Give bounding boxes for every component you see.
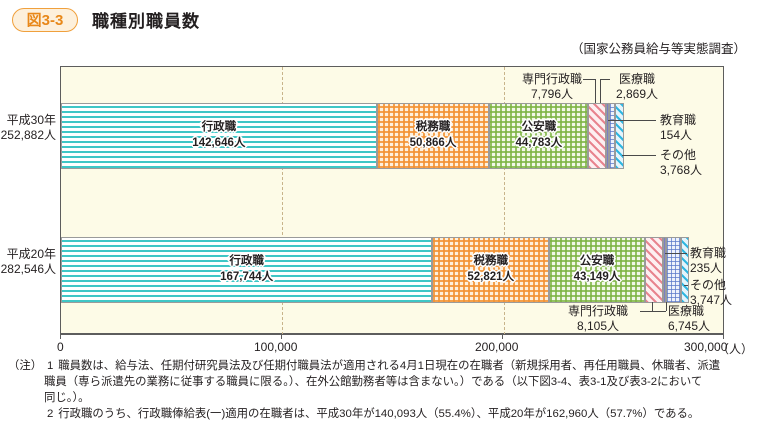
segment-h20-koan-value: 43,149人 bbox=[550, 270, 644, 284]
leader-h20-iryo-v bbox=[666, 302, 667, 311]
callout-h30-iryo: 医療職 2,869人 bbox=[603, 72, 671, 102]
callout-h30-kyoiku-name: 教育職 bbox=[660, 113, 696, 128]
leader-h20-kyoiku bbox=[665, 253, 687, 254]
footnote-1-line3: 同じ。）。 bbox=[44, 390, 756, 406]
page-title: 職種別職員数 bbox=[92, 7, 200, 32]
footnote-2-line1: 行政職のうち、行政職俸給表(一)適用の在職者は、平成30年が140,093人（5… bbox=[58, 408, 699, 420]
x-tick-0 bbox=[60, 334, 61, 339]
callout-h20-iryo-name: 医療職 bbox=[668, 304, 710, 319]
footnote-1-line2: 職員（専ら派遣先の業務に従事する職員に限る。）、在外公館勤務者等は含まない。）で… bbox=[44, 374, 756, 390]
callout-h20-senmon-name: 専門行政職 bbox=[556, 304, 640, 319]
callout-h20-iryo: 医療職 6,745人 bbox=[668, 304, 710, 334]
segment-h20-sonota[interactable] bbox=[681, 237, 689, 303]
leader-h30-sonota bbox=[622, 155, 656, 156]
category-label-h30-year: 平成30年 bbox=[0, 113, 56, 128]
footnote-1-number: 1 bbox=[42, 358, 58, 374]
category-label-h20: 平成20年 282,546人 bbox=[0, 247, 56, 277]
segment-h30-gyosei-name: 行政職 bbox=[62, 120, 376, 134]
segment-h20-koan[interactable]: 公安職 43,149人 bbox=[549, 237, 645, 303]
footnote-1: （注） 1 職員数は、給与法、任期付研究員法及び任期付職員法が適用される4月1日… bbox=[8, 358, 756, 374]
leader-h30-iryo-v bbox=[600, 79, 601, 103]
footnote-1-line1: 職員数は、給与法、任期付研究員法及び任期付職員法が適用される4月1日現在の在職者… bbox=[58, 360, 720, 372]
callout-h30-iryo-name: 医療職 bbox=[603, 72, 671, 87]
segment-h30-zeimu[interactable]: 税務職 50,866人 bbox=[377, 103, 490, 169]
leader-h20-sonota bbox=[684, 285, 688, 286]
leader-h20-iryo-h bbox=[648, 311, 666, 312]
x-tick-label-0: 0 bbox=[57, 340, 64, 354]
callout-h20-kyoiku: 教育職 235人 bbox=[690, 246, 726, 276]
figure-number-badge: 図3-3 bbox=[12, 8, 78, 32]
category-label-h20-year: 平成20年 bbox=[0, 247, 56, 262]
leader-h30-kyoiku bbox=[608, 120, 656, 121]
leader-h30-iryo-h bbox=[600, 79, 610, 80]
segment-h20-gyosei-value: 167,744人 bbox=[62, 270, 431, 284]
footnote-2: （注） 2 行政職のうち、行政職俸給表(一)適用の在職者は、平成30年が140,… bbox=[8, 406, 756, 422]
x-tick-100000 bbox=[281, 334, 282, 339]
x-tick-200000 bbox=[502, 334, 503, 339]
callout-h20-senmon-value: 8,105人 bbox=[556, 319, 640, 334]
segment-h20-gyosei[interactable]: 行政職 167,744人 bbox=[61, 237, 432, 303]
segment-h20-iryo[interactable] bbox=[666, 237, 681, 303]
segment-h30-zeimu-value: 50,866人 bbox=[378, 136, 489, 150]
callout-h20-senmon: 専門行政職 8,105人 bbox=[556, 304, 640, 334]
x-tick-300000 bbox=[723, 334, 724, 339]
segment-h20-zeimu[interactable]: 税務職 52,821人 bbox=[432, 237, 549, 303]
segment-h30-senmon[interactable] bbox=[588, 103, 605, 169]
segment-h30-gyosei-value: 142,646人 bbox=[62, 136, 376, 150]
footnotes: （注） 1 職員数は、給与法、任期付研究員法及び任期付職員法が適用される4月1日… bbox=[8, 358, 756, 422]
category-label-h30-total: 252,882人 bbox=[0, 128, 56, 143]
segment-h30-koan[interactable]: 公安職 44,783人 bbox=[489, 103, 588, 169]
leader-h20-senmon-v bbox=[652, 302, 653, 311]
footnote-1-cont: 職員（専ら派遣先の業務に従事する職員に限る。）、在外公館勤務者等は含まない。）で… bbox=[8, 374, 756, 406]
callout-h30-sonota-value: 3,768人 bbox=[660, 163, 702, 178]
category-label-h20-total: 282,546人 bbox=[0, 262, 56, 277]
segment-h30-gyosei[interactable]: 行政職 142,646人 bbox=[61, 103, 377, 169]
callout-h30-senmon: 専門行政職 7,796人 bbox=[512, 72, 592, 102]
segment-h20-zeimu-value: 52,821人 bbox=[433, 270, 548, 284]
segment-h20-koan-name: 公安職 bbox=[550, 254, 644, 268]
callout-h20-sonota-name: その他 bbox=[690, 278, 732, 293]
segment-h20-senmon[interactable] bbox=[645, 237, 663, 303]
source-citation: （国家公務員給与等実態調査） bbox=[571, 38, 746, 57]
x-axis-unit-label: （人） bbox=[717, 340, 753, 357]
callout-h20-kyoiku-value: 235人 bbox=[690, 261, 726, 276]
callout-h30-senmon-name: 専門行政職 bbox=[512, 72, 592, 87]
x-tick-label-200000: 200,000 bbox=[475, 340, 518, 354]
segment-h30-sonota[interactable] bbox=[615, 103, 623, 169]
segment-h20-zeimu-name: 税務職 bbox=[433, 254, 548, 268]
segment-h30-koan-value: 44,783人 bbox=[490, 136, 587, 150]
callout-h20-iryo-value: 6,745人 bbox=[668, 319, 710, 334]
callout-h30-kyoiku-value: 154人 bbox=[660, 128, 696, 143]
callout-h30-kyoiku: 教育職 154人 bbox=[660, 113, 696, 143]
callout-h30-sonota-name: その他 bbox=[660, 148, 702, 163]
footnote-2-number: 2 bbox=[42, 406, 58, 422]
segment-h20-gyosei-name: 行政職 bbox=[62, 254, 431, 268]
x-tick-label-100000: 100,000 bbox=[254, 340, 297, 354]
segment-h30-zeimu-name: 税務職 bbox=[378, 120, 489, 134]
callout-h30-sonota: その他 3,768人 bbox=[660, 148, 702, 178]
segment-h30-koan-name: 公安職 bbox=[490, 120, 587, 134]
x-axis-line bbox=[60, 334, 724, 335]
callout-h30-senmon-value: 7,796人 bbox=[512, 87, 592, 102]
callout-h30-iryo-value: 2,869人 bbox=[603, 87, 671, 102]
footnotes-label: （注） bbox=[8, 358, 42, 374]
callout-h20-kyoiku-name: 教育職 bbox=[690, 246, 726, 261]
leader-h30-senmon-v bbox=[595, 79, 596, 103]
chart-plot-area: 行政職 142,646人 税務職 50,866人 公安職 44,783人 行政職… bbox=[60, 66, 724, 334]
category-label-h30: 平成30年 252,882人 bbox=[0, 113, 56, 143]
leader-h30-senmon-h bbox=[583, 79, 595, 80]
